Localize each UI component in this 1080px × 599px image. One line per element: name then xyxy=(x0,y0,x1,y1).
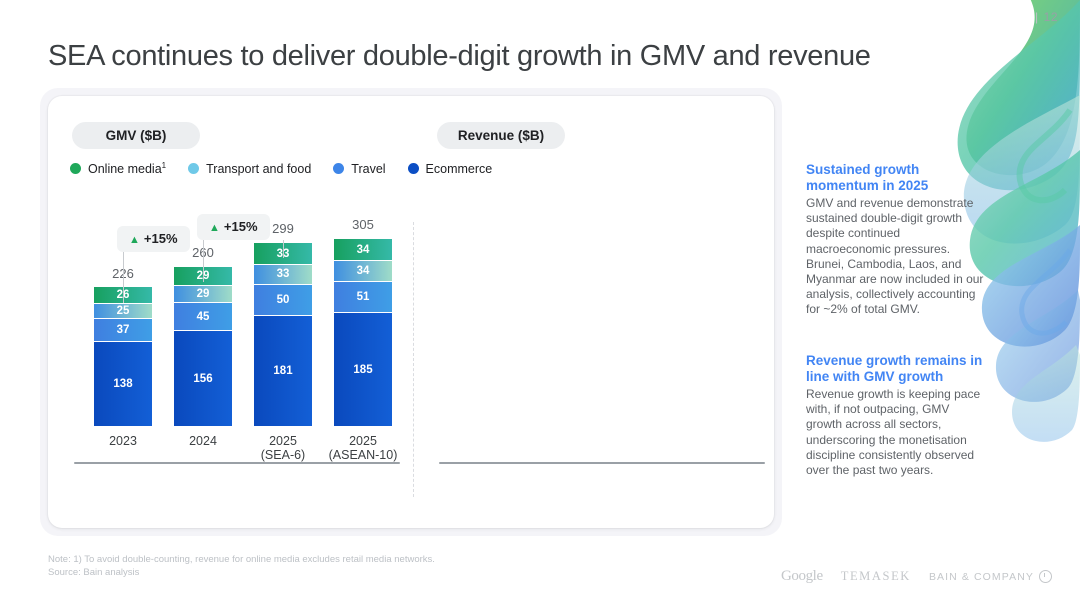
bar-segment-value: 25 xyxy=(117,305,130,317)
google-logo: Google xyxy=(781,568,823,585)
bar-segment-value: 29 xyxy=(197,288,210,300)
x-axis-label-line: (ASEAN-10) xyxy=(322,448,404,462)
bar-segment-ecommerce[interactable]: 181 xyxy=(254,315,312,426)
badge-connector-line xyxy=(283,240,284,258)
bar-group: 2625371382262023 xyxy=(94,287,152,426)
insight-panel-heading: Sustained growth momentum in 2025 xyxy=(806,162,988,194)
bar-total-label: 305 xyxy=(334,217,392,232)
plot-area-gmv: 2625371382262023292945156260202433335018… xyxy=(72,232,402,464)
bar-segment-travel[interactable]: 45 xyxy=(174,302,232,330)
legend-item-label: Transport and food xyxy=(206,162,311,176)
insight-panel-heading: Revenue growth remains in line with GMV … xyxy=(806,353,988,385)
page-number-separator: | xyxy=(1035,10,1039,24)
bar-segment-value: 51 xyxy=(357,291,370,303)
legend-dot-icon xyxy=(333,163,344,174)
page-number-value: 12 xyxy=(1044,10,1058,24)
bain-logo: BAIN & COMPANY xyxy=(929,570,1052,583)
bar-group: 3434511853052025(ASEAN-10) xyxy=(334,239,392,426)
page-number: |12 xyxy=(1035,10,1058,24)
bar-segment-travel[interactable]: 50 xyxy=(254,284,312,315)
legend-item-label: Travel xyxy=(351,162,385,176)
stacked-bar[interactable]: 333350181 xyxy=(254,243,312,426)
growth-up-triangle-icon: ▲ xyxy=(209,222,220,234)
insight-panel-body: Revenue growth is keeping pace with, if … xyxy=(806,387,988,478)
bar-segment-ecommerce[interactable]: 185 xyxy=(334,312,392,426)
logo-row: Google TEMASEK BAIN & COMPANY xyxy=(781,568,1052,585)
x-axis-label: 2025(ASEAN-10) xyxy=(322,434,404,462)
badge-connector-line xyxy=(203,240,204,282)
insight-panel-body: GMV and revenue demonstrate sustained do… xyxy=(806,196,988,318)
bar-segment-value: 185 xyxy=(353,364,372,376)
page-title: SEA continues to deliver double-digit gr… xyxy=(48,40,871,73)
growth-badge-label: +15% xyxy=(144,231,178,246)
bar-segment-value: 156 xyxy=(193,373,212,385)
bar-group: 2929451562602024 xyxy=(174,267,232,426)
x-axis-label: 2024 xyxy=(162,434,244,448)
bar-group: 3333501812992025(SEA-6) xyxy=(254,243,312,426)
chart-title-pill-revenue: Revenue ($B) xyxy=(437,122,565,149)
bar-segment-value: 37 xyxy=(117,324,130,336)
bar-segment-transport-and-food[interactable]: 29 xyxy=(174,285,232,303)
growth-badge-label: +15% xyxy=(224,219,258,234)
chart-legend: Online media1Transport and foodTravelEco… xyxy=(70,161,514,176)
x-axis-label-line: (SEA-6) xyxy=(242,448,324,462)
legend-item-travel: Travel xyxy=(333,162,385,176)
growth-badge: ▲+15% xyxy=(197,214,270,240)
footnote-source: Source: Bain analysis xyxy=(48,567,435,580)
plot-area-revenue xyxy=(437,232,767,464)
temasek-logo: TEMASEK xyxy=(841,569,911,584)
x-axis-revenue xyxy=(439,462,765,464)
x-axis-gmv xyxy=(74,462,400,464)
bain-logo-text: BAIN & COMPANY xyxy=(929,571,1034,583)
legend-dot-icon xyxy=(70,163,81,174)
chart-divider xyxy=(413,222,414,497)
bar-segment-value: 34 xyxy=(357,265,370,277)
x-axis-label-line: 2024 xyxy=(162,434,244,448)
legend-item-label: Online media1 xyxy=(88,161,166,176)
chart-title-pill-gmv: GMV ($B) xyxy=(72,122,200,149)
badge-connector-line xyxy=(123,252,124,303)
bar-segment-value: 50 xyxy=(277,294,290,306)
bar-segment-ecommerce[interactable]: 138 xyxy=(94,341,152,426)
legend-item-online_media: Online media1 xyxy=(70,161,166,176)
bar-segment-transport-and-food[interactable]: 25 xyxy=(94,303,152,318)
legend-item-label: Ecommerce xyxy=(426,162,493,176)
chart-revenue xyxy=(437,232,767,500)
bain-circle-icon xyxy=(1039,570,1052,583)
x-axis-label: 2023 xyxy=(82,434,164,448)
x-axis-label: 2025(SEA-6) xyxy=(242,434,324,462)
bar-segment-online-media[interactable]: 34 xyxy=(334,239,392,260)
insight-panel-sustained-growth: Sustained growth momentum in 2025 GMV an… xyxy=(806,162,988,318)
footnote-note: Note: 1) To avoid double-counting, reven… xyxy=(48,554,435,567)
bar-segment-transport-and-food[interactable]: 34 xyxy=(334,260,392,281)
bar-segment-value: 33 xyxy=(277,268,290,280)
bar-segment-value: 45 xyxy=(197,311,210,323)
footnote-block: Note: 1) To avoid double-counting, reven… xyxy=(48,554,435,579)
bar-segment-value: 138 xyxy=(113,378,132,390)
bar-segment-value: 34 xyxy=(357,244,370,256)
growth-up-triangle-icon: ▲ xyxy=(129,234,140,246)
legend-dot-icon xyxy=(408,163,419,174)
bar-segment-transport-and-food[interactable]: 33 xyxy=(254,264,312,284)
insight-panel-revenue-growth: Revenue growth remains in line with GMV … xyxy=(806,353,988,478)
legend-item-ecommerce: Ecommerce xyxy=(408,162,493,176)
bar-segment-travel[interactable]: 51 xyxy=(334,281,392,312)
bar-segment-ecommerce[interactable]: 156 xyxy=(174,330,232,426)
legend-footnote-marker: 1 xyxy=(162,161,166,170)
bar-segment-value: 181 xyxy=(273,365,292,377)
x-axis-label-line: 2025 xyxy=(322,434,404,448)
stacked-bar[interactable]: 343451185 xyxy=(334,239,392,426)
legend-item-transport_and_food: Transport and food xyxy=(188,162,311,176)
bar-segment-travel[interactable]: 37 xyxy=(94,318,152,341)
x-axis-label-line: 2025 xyxy=(242,434,324,448)
legend-dot-icon xyxy=(188,163,199,174)
stacked-bar[interactable]: 262537138 xyxy=(94,287,152,426)
chart-gmv: 2625371382262023292945156260202433335018… xyxy=(72,232,402,500)
x-axis-label-line: 2023 xyxy=(82,434,164,448)
growth-badge: ▲+15% xyxy=(117,226,190,252)
stacked-bar[interactable]: 292945156 xyxy=(174,267,232,426)
